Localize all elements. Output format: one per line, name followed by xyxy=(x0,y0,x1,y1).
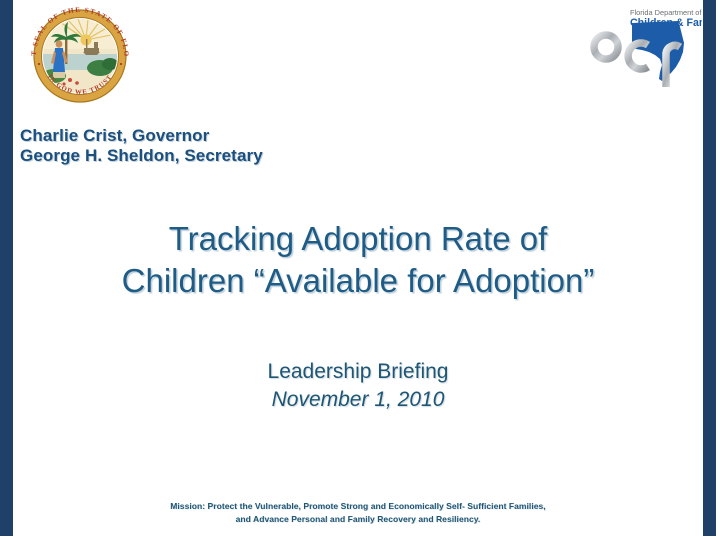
subtitle-block: Leadership Briefing November 1, 2010 xyxy=(13,358,703,415)
right-accent-band xyxy=(703,0,716,536)
mission-line-2: and Advance Personal and Family Recovery… xyxy=(13,513,703,526)
title-line-2: Children “Available for Adoption” xyxy=(13,260,703,302)
left-accent-band xyxy=(0,0,13,536)
mission-line-1: Mission: Protect the Vulnerable, Promote… xyxy=(13,500,703,513)
mission-statement: Mission: Protect the Vulnerable, Promote… xyxy=(13,500,703,526)
briefing-label: Leadership Briefing xyxy=(13,358,703,386)
presentation-slide: GREAT SEAL OF THE STATE OF FLORIDA IN GO… xyxy=(0,0,720,540)
governor-name: Charlie Crist, Governor xyxy=(20,126,263,146)
dcf-logo: Florida Department of Children & Familie… xyxy=(570,5,702,93)
page-title: Tracking Adoption Rate of Children “Avai… xyxy=(13,218,703,302)
florida-state-seal: GREAT SEAL OF THE STATE OF FLORIDA IN GO… xyxy=(24,6,136,106)
dcf-department-line: Florida Department of xyxy=(630,8,702,17)
dcf-agency-line: Children & Families xyxy=(630,17,702,29)
officials-block: Charlie Crist, Governor George H. Sheldo… xyxy=(20,126,263,166)
title-line-1: Tracking Adoption Rate of xyxy=(13,218,703,260)
briefing-date: November 1, 2010 xyxy=(13,386,703,414)
secretary-name: George H. Sheldon, Secretary xyxy=(20,146,263,166)
